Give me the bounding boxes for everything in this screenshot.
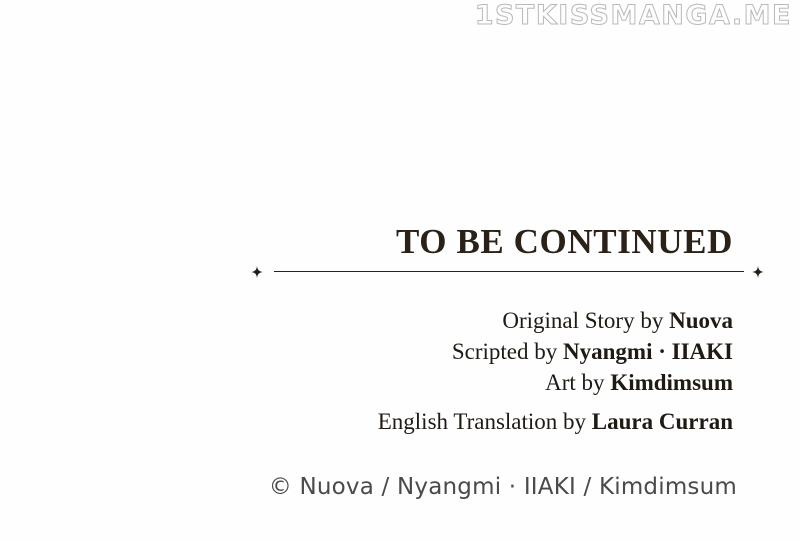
divider-line xyxy=(274,271,744,272)
copyright-notice: © Nuova / Nyangmi · IIAKI / Kimdimsum xyxy=(0,472,737,502)
to-be-continued-title: TO BE CONTINUED xyxy=(0,222,733,262)
staff-role-label: Original Story by xyxy=(502,308,669,333)
staff-role-label: Scripted by xyxy=(452,339,563,364)
staff-name-label: Kimdimsum xyxy=(610,370,733,395)
staff-credit-line: Original Story by Nuova xyxy=(0,305,733,336)
translation-credit-line: English Translation by Laura Curran xyxy=(0,406,733,437)
ornamental-divider xyxy=(250,264,766,280)
sparkle-diamond-icon-right xyxy=(752,266,764,278)
staff-name-label: Nyangmi · IIAKI xyxy=(563,339,733,364)
translation-name-label: Laura Curran xyxy=(592,409,733,434)
comic-credits-page: 1STKISSMANGA.ME TO BE CONTINUED Original… xyxy=(0,0,800,541)
staff-credit-line: Art by Kimdimsum xyxy=(0,367,733,398)
translation-role-label: English Translation by xyxy=(378,409,592,434)
sparkle-diamond-icon-left xyxy=(251,266,263,278)
site-watermark: 1STKISSMANGA.ME xyxy=(475,1,792,31)
staff-name-label: Nuova xyxy=(669,308,733,333)
staff-credit-line: Scripted by Nyangmi · IIAKI xyxy=(0,336,733,367)
staff-role-label: Art by xyxy=(545,370,610,395)
staff-credits-list: Original Story by Nuova Scripted by Nyan… xyxy=(0,305,733,398)
